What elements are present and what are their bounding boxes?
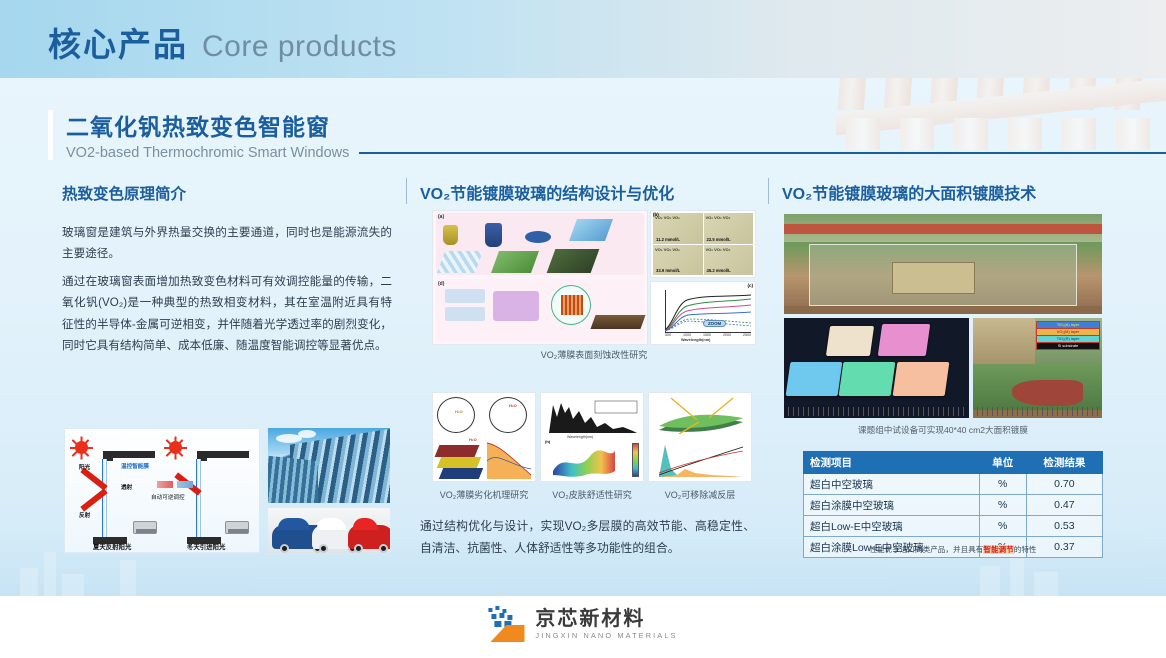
smart-window-illustration: 阳光 温控智能膜 透射 反射 自动可逆调控 夏天反射阳光 冬天引进阳光 [64, 428, 260, 553]
slide-footer: 京芯新材料 JINGXIN NANO MATERIALS [0, 596, 1166, 658]
title-accent-bar [48, 110, 53, 160]
running-track [784, 224, 1102, 234]
figure-antireflection-layer [648, 392, 752, 482]
x-axis-label: Wavelength(nm) [681, 338, 710, 342]
colorbar [632, 443, 639, 477]
cell-result: 0.70 [1026, 474, 1102, 495]
column-heading-principle: 热致变色原理简介 [62, 182, 186, 204]
degradation-plot [485, 439, 533, 481]
logo-company-cn: 京芯新材料 [535, 608, 677, 630]
reflectance-plot [655, 439, 747, 479]
zoom-badge: ZOOM [703, 320, 726, 327]
coating-photo-caption: 课题组中试设备可实现40*40 cm2大面积镀膜 [784, 424, 1102, 436]
surface-3d-plot [547, 441, 619, 481]
caption-winter-admit: 冬天引进阳光 [187, 542, 225, 551]
section-subtitle-row: VO2-based Thermochromic Smart Windows [66, 145, 1166, 161]
cell-unit: % [979, 495, 1026, 516]
footnote-suffix: 的特性 [1014, 545, 1037, 554]
layer-tio2-r: TiO₂(R) layer [1037, 336, 1099, 343]
footnote-highlight: 智能调节 [983, 545, 1013, 554]
figure-skin-comfort: Wavelength(nm) (h) [540, 392, 644, 482]
crystal-lattice [437, 251, 483, 273]
layer-glass [439, 468, 483, 479]
logo-triangle-shape [490, 625, 524, 642]
sample-cyan [785, 362, 842, 396]
footnote-prefix: 性能优于进口同类产品，并且具有 [869, 545, 983, 554]
table-header-unit: 单位 [979, 452, 1026, 474]
figure-caption-comfort: VO₂皮肤舒适性研究 [540, 488, 644, 501]
table-header-result: 检测结果 [1026, 452, 1102, 474]
cell-unit: % [979, 474, 1026, 495]
layer-stack-legend: TiO₂(A) layer VO₂(M) layer TiO₂(R) layer… [1036, 321, 1100, 350]
glass-substrate-layer [590, 315, 645, 329]
table-row: 超白中空玻璃 % 0.70 [804, 474, 1103, 495]
photo-glass-curtain-building [268, 428, 390, 503]
header-title-cn: 核心产品 [48, 18, 188, 66]
beaker-1 [443, 225, 458, 245]
column-divider-2 [768, 178, 769, 204]
header-title-group: 核心产品 Core products [48, 18, 397, 66]
layer-tio2-a: TiO₂(A) layer [1037, 322, 1099, 329]
section-title-cn: 二氧化钒热致变色智能窗 [66, 108, 1166, 142]
micrograph-4: VO₂ VO₂ VO₂45.2 mmol/L [704, 245, 754, 276]
cell-unit: % [979, 516, 1026, 537]
section-title-en: VO2-based Thermochromic Smart Windows [66, 145, 349, 161]
panel-label-h: (h) [545, 439, 550, 444]
arrow-left-control [157, 481, 173, 488]
column-heading-coating: VO₂节能镀膜玻璃的大面积镀膜技术 [782, 180, 1036, 204]
layer-middle [437, 457, 481, 468]
caption-summer-reflect: 夏天反射阳光 [93, 542, 131, 551]
solar-spectrum-plot [545, 397, 641, 435]
micrograph-2: VO₂ VO₂ VO₂22.5 mmol/L [704, 213, 754, 244]
table-row: 超白Low-E中空玻璃 % 0.53 [804, 516, 1103, 537]
cloud-2 [298, 430, 316, 438]
panel-label-c: (c) [748, 283, 754, 288]
label-h2o-3: H₂O [469, 437, 477, 442]
logo-mark-icon [488, 606, 526, 642]
dish-1 [525, 231, 551, 243]
process-box-1 [445, 289, 485, 303]
house-structure [892, 262, 975, 294]
mechanism-circle-1 [437, 397, 475, 433]
slide-header: 核心产品 Core products [0, 0, 1166, 78]
micrograph-3: VO₂ VO₂ VO₂33.9 mmol/L [653, 245, 703, 276]
glass-tower-secondary [268, 455, 318, 503]
table-header-row: 检测项目 单位 检测结果 [804, 452, 1103, 474]
column-heading-structure: VO₂节能镀膜玻璃的结构设计与优化 [420, 180, 674, 204]
logo-company-en: JINGXIN NANO MATERIALS [535, 631, 677, 640]
layer-vo2-m: VO₂(M) layer [1037, 329, 1099, 336]
spectrum-axis-label: Wavelength(nm) [567, 435, 593, 439]
porous-structure [561, 295, 583, 315]
cell-result: 0.47 [1026, 495, 1102, 516]
cell-item: 超白Low-E中空玻璃 [804, 516, 980, 537]
panel-label-d: (d) [438, 281, 444, 287]
logo-text-group: 京芯新材料 JINGXIN NANO MATERIALS [535, 608, 677, 640]
test-results-table: 检测项目 单位 检测结果 超白中空玻璃 % 0.70 超白涂膜中空玻璃 % 0.… [803, 451, 1103, 558]
figure-caption-antireflection: VO₂可移除减反层 [648, 488, 752, 501]
section-title-block: 二氧化钒热致变色智能窗 VO2-based Thermochromic Smar… [48, 108, 1166, 161]
structure-summary-text: 通过结构优化与设计，实现VO₂多层膜的高效节能、高稳定性、自清洁、抗菌性、人体舒… [420, 515, 755, 560]
slide-root: 核心产品 Core products 二氧化钒热致变色智能窗 VO2-based… [0, 0, 1166, 658]
title-divider-line [359, 152, 1166, 154]
table-header-item: 检测项目 [804, 452, 980, 474]
figure-synthesis-schematic: (a) (d) [432, 210, 648, 345]
label-reflection: 反射 [79, 511, 90, 519]
label-h2o-1: H₂O [455, 409, 463, 414]
photo-coated-glass-outdoor: TiO₂(A) layer VO₂(M) layer TiO₂(R) layer… [973, 318, 1102, 418]
photo-large-area-coated-glass [784, 214, 1102, 314]
scale-ruler-outdoor [977, 407, 1098, 416]
label-h2o-2: H₂O [509, 403, 517, 408]
layer-si-substrate: Si substrate [1037, 343, 1099, 349]
sample-magenta [878, 324, 931, 356]
device-winter [225, 521, 249, 534]
antireflection-schematic [653, 396, 749, 434]
figure-sem-micrographs: VO₂ VO₂ VO₂11.2 mmol/L VO₂ VO₂ VO₂22.5 m… [650, 210, 756, 278]
principle-paragraph-2: 通过在玻璃窗表面增加热致变色材料可有效调控能量的传输，二氧化钒(VO₂)是一种典… [62, 271, 392, 357]
window-pane-summer [102, 459, 107, 537]
figure-degradation-mechanism: H₂O H₂O H₂O [432, 392, 536, 482]
table-row: 超白涂膜中空玻璃 % 0.47 [804, 495, 1103, 516]
photo-automobiles [268, 508, 390, 554]
red-foliage [1012, 380, 1083, 406]
layer-protective [435, 445, 480, 457]
cell-result: 0.53 [1026, 516, 1102, 537]
sample-green [839, 362, 896, 396]
car-red [348, 525, 390, 549]
process-core [493, 291, 539, 321]
process-box-2 [445, 307, 485, 321]
beaker-2 [485, 223, 502, 247]
mechanism-circle-2 [489, 397, 527, 433]
label-auto-control: 自动可逆调控 [151, 493, 185, 501]
figure-caption-etching: VO₂薄膜表面刻蚀改性研究 [432, 348, 756, 361]
principle-paragraphs: 玻璃窗是建筑与外界热量交换的主要通道，同时也是能源流失的主要途径。 通过在玻璃窗… [62, 222, 392, 357]
sample-beige [826, 326, 875, 356]
figure-transmittance-spectra: (c) ZOOM 500 1000 1500 2000 2500 Wavelen… [650, 281, 756, 345]
micrograph-1: VO₂ VO₂ VO₂11.2 mmol/L [653, 213, 703, 244]
annealed-film [491, 251, 539, 273]
company-logo: 京芯新材料 JINGXIN NANO MATERIALS [488, 606, 677, 642]
photo-color-samples [784, 318, 969, 418]
scale-ruler-samples [788, 407, 965, 416]
column-divider-1 [406, 178, 407, 204]
panel-label-a: (a) [438, 214, 444, 220]
cell-item: 超白中空玻璃 [804, 474, 980, 495]
x-tick-labels: 500 1000 1500 2000 2500 [665, 333, 751, 337]
panel-label-b: (b) [653, 212, 659, 217]
device-summer [133, 521, 157, 534]
label-sunlight: 阳光 [79, 463, 90, 471]
sample-peach [893, 362, 950, 396]
header-title-en: Core products [202, 30, 397, 64]
principle-paragraph-1: 玻璃窗是建筑与外界热量交换的主要通道，同时也是能源流失的主要途径。 [62, 222, 392, 265]
film-sample [547, 249, 600, 273]
label-transmission: 透射 [121, 483, 132, 491]
table-footnote: 性能优于进口同类产品，并且具有智能调节的特性 [803, 544, 1103, 555]
arrow-right-control [177, 481, 193, 488]
figure-caption-degradation: VO₂薄膜劣化机理研究 [432, 488, 536, 501]
label-thermochromic-film: 温控智能膜 [121, 462, 149, 470]
cell-item: 超白涂膜中空玻璃 [804, 495, 980, 516]
window-pane-winter [196, 459, 201, 537]
ground-strip [784, 306, 1102, 314]
